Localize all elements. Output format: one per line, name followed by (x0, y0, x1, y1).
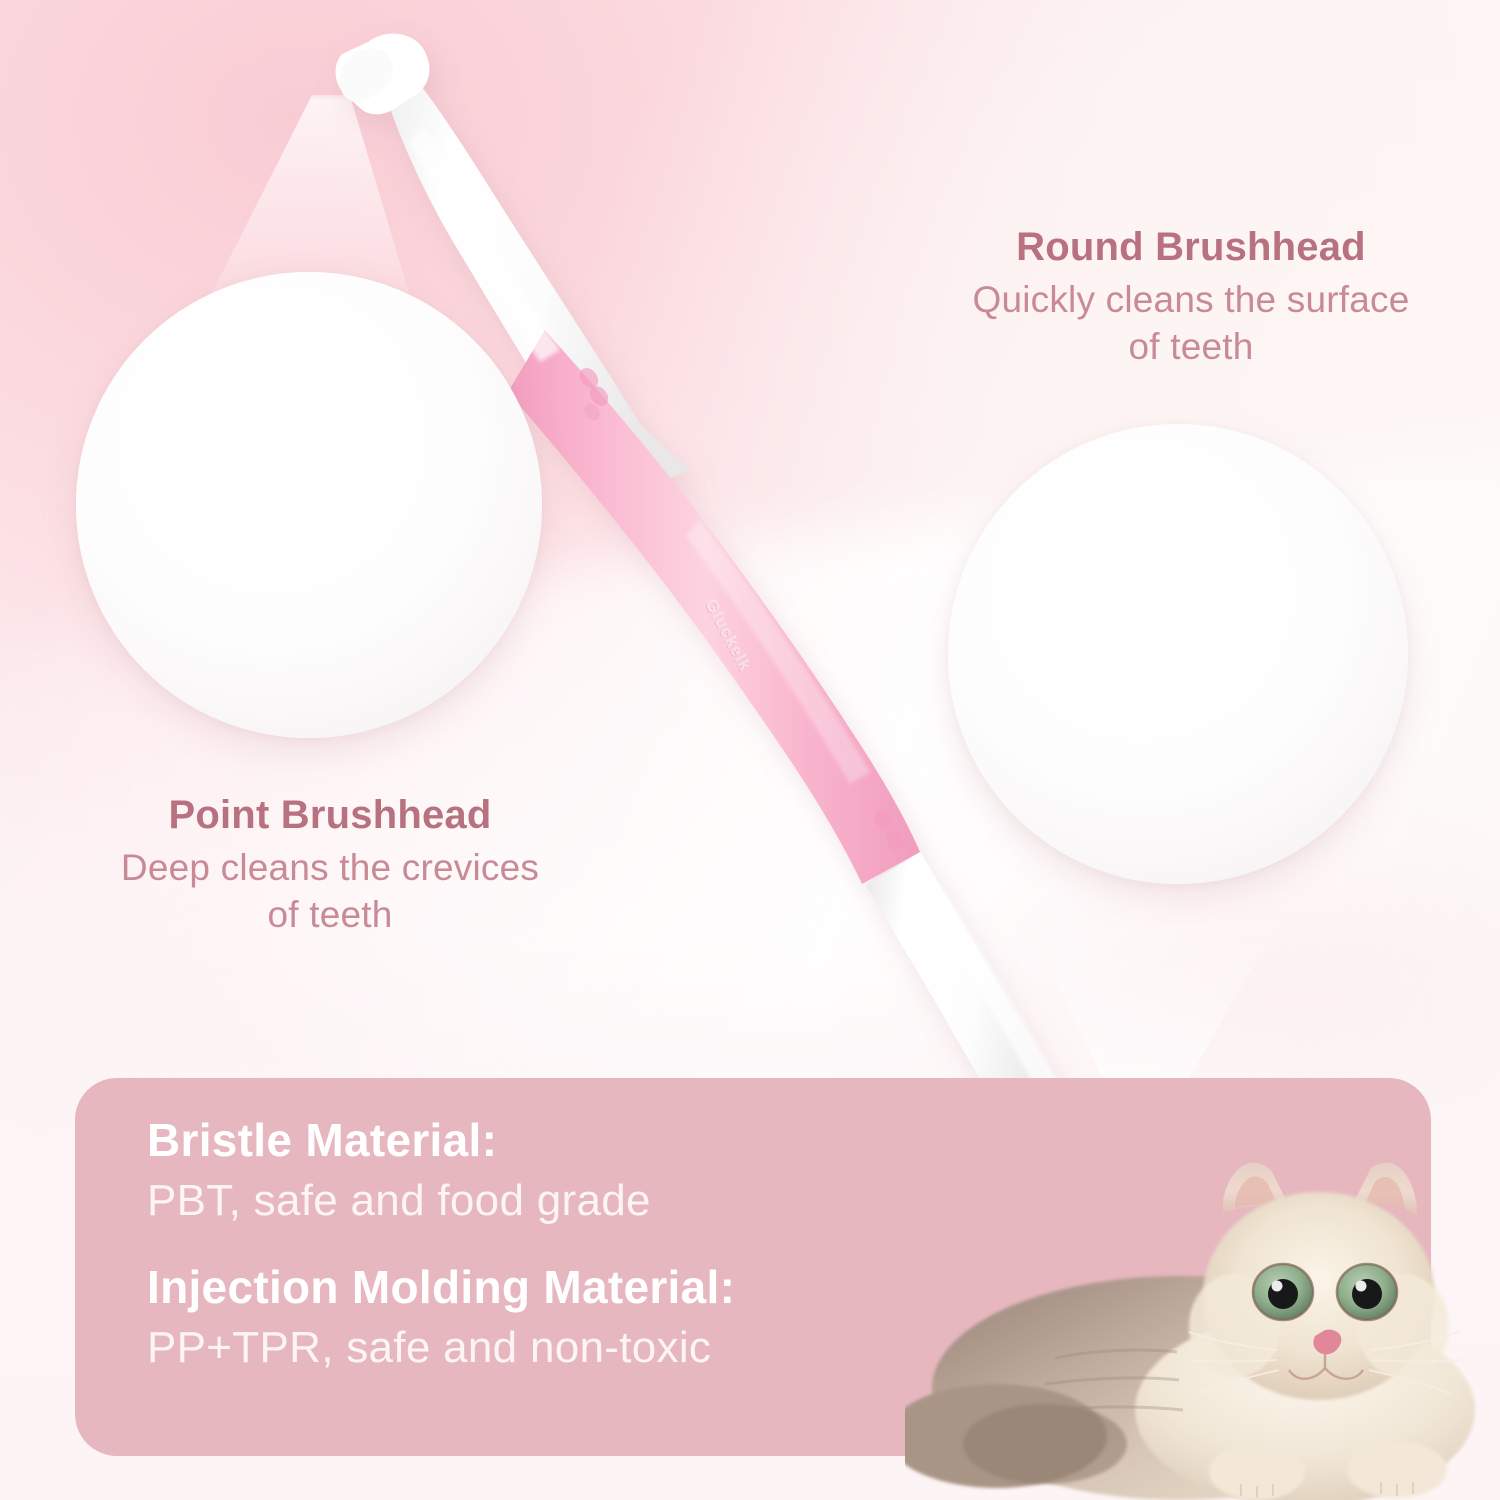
callout-point-brushhead-line2: of teeth (18, 892, 642, 939)
spec-injection-molding-material-heading: Injection Molding Material: (147, 1259, 1027, 1315)
callout-point-brushhead-title: Point Brushhead (18, 792, 642, 839)
callout-round-brushhead-line2: of teeth (880, 324, 1500, 371)
product-infographic: Gluckelk (0, 0, 1500, 1500)
spec-injection-molding-material: Injection Molding Material: PP+TPR, safe… (147, 1259, 1027, 1376)
spec-bristle-material: Bristle Material: PBT, safe and food gra… (147, 1112, 1027, 1229)
point-brushhead-inset (76, 272, 542, 738)
round-brushhead-inset (948, 424, 1408, 884)
cat-photo (905, 1148, 1500, 1500)
spec-bristle-material-heading: Bristle Material: (147, 1112, 1027, 1168)
callout-point-brushhead-line1: Deep cleans the crevices (18, 845, 642, 892)
spec-bristle-material-value: PBT, safe and food grade (147, 1174, 1027, 1229)
spec-list: Bristle Material: PBT, safe and food gra… (147, 1112, 1027, 1375)
inset-background-right (948, 424, 1408, 884)
cat-tail-shadow (963, 1404, 1127, 1484)
inset-background-left (76, 272, 542, 738)
callout-round-brushhead: Round Brushhead Quickly cleans the surfa… (880, 224, 1500, 370)
callout-round-brushhead-line1: Quickly cleans the surface (880, 277, 1500, 324)
spec-injection-molding-material-value: PP+TPR, safe and non-toxic (147, 1321, 1027, 1376)
callout-point-brushhead: Point Brushhead Deep cleans the crevices… (18, 792, 642, 938)
callout-round-brushhead-title: Round Brushhead (880, 224, 1500, 271)
cat-illustration (905, 1148, 1500, 1500)
